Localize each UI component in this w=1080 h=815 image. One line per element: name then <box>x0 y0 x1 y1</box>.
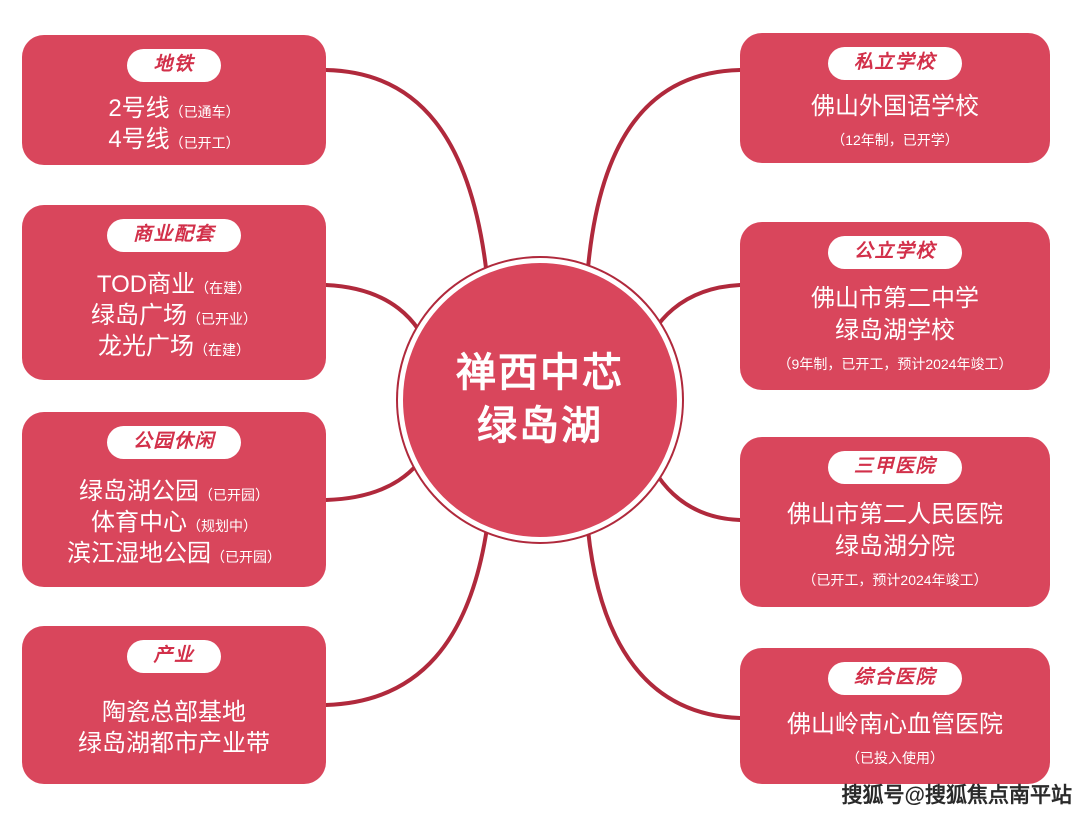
item-title: 绿岛湖学校 <box>835 317 955 344</box>
connector-industry <box>326 528 487 705</box>
item-title: 佛山岭南心血管医院 <box>787 711 1003 738</box>
card-industry[interactable]: 产业 陶瓷总部基地 绿岛湖都市产业带 <box>22 626 326 784</box>
list-item: 绿岛湖公园（已开园） <box>79 476 269 507</box>
list-item: 佛山岭南心血管医院 <box>787 709 1003 740</box>
item-title: 体育中心 <box>91 509 187 536</box>
item-title: 佛山市第二中学 <box>811 285 979 312</box>
list-item: TOD商业（在建） <box>97 269 251 300</box>
item-title: 绿岛广场 <box>91 302 187 329</box>
item-title: 绿岛湖都市产业带 <box>78 730 270 757</box>
list-item: 绿岛湖学校 <box>835 315 955 346</box>
card-public-school-body: 佛山市第二中学 绿岛湖学校 （9年制，已开工，预计2024年竣工） <box>750 280 1040 378</box>
card-tertiary-hospital[interactable]: 三甲医院 佛山市第二人民医院 绿岛湖分院 （已开工，预计2024年竣工） <box>740 437 1050 607</box>
list-item: 绿岛广场（已开业） <box>91 300 257 331</box>
item-note: （在建） <box>195 280 251 296</box>
list-item: 4号线（已开工） <box>108 124 239 155</box>
connector-metro <box>326 70 486 268</box>
card-metro[interactable]: 地铁 2号线（已通车） 4号线（已开工） <box>22 35 326 165</box>
watermark: 搜狐号@搜狐焦点南平站 <box>842 779 1072 809</box>
infographic-canvas: 地铁 2号线（已通车） 4号线（已开工） 商业配套 TOD商业（在建） 绿岛广场… <box>0 0 1080 815</box>
list-item: 佛山外国语学校 <box>811 91 979 122</box>
card-park[interactable]: 公园休闲 绿岛湖公园（已开园） 体育中心（规划中） 滨江湿地公园（已开园） <box>22 412 326 587</box>
card-private-school[interactable]: 私立学校 佛山外国语学校 （12年制，已开学） <box>740 33 1050 163</box>
card-footnote: （已投入使用） <box>846 749 944 769</box>
card-general-hospital-badge: 综合医院 <box>828 662 962 695</box>
item-title: 绿岛湖公园 <box>79 478 199 505</box>
card-private-school-body: 佛山外国语学校 （12年制，已开学） <box>750 91 1040 151</box>
card-general-hospital-body: 佛山岭南心血管医院 （已投入使用） <box>750 706 1040 772</box>
center-hub[interactable]: 禅西中芯 绿岛湖 <box>398 258 682 542</box>
list-item: 龙光广场（在建） <box>98 331 250 362</box>
list-item: 绿岛湖分院 <box>835 531 955 562</box>
item-title: 2号线 <box>108 95 169 122</box>
item-note: （已开园） <box>199 487 269 503</box>
item-title: TOD商业 <box>97 271 195 298</box>
item-note: （已开业） <box>187 311 257 327</box>
item-title: 4号线 <box>108 126 169 153</box>
card-private-school-badge: 私立学校 <box>828 47 962 80</box>
card-tertiary-hospital-body: 佛山市第二人民医院 绿岛湖分院 （已开工，预计2024年竣工） <box>750 495 1040 595</box>
item-title: 滨江湿地公园 <box>67 540 211 567</box>
list-item: 绿岛湖都市产业带 <box>78 728 270 759</box>
item-title: 绿岛湖分院 <box>835 533 955 560</box>
card-tertiary-hospital-badge: 三甲医院 <box>828 451 962 484</box>
card-footnote: （已开工，预计2024年竣工） <box>802 571 987 591</box>
card-industry-badge: 产业 <box>127 640 220 673</box>
card-public-school-badge: 公立学校 <box>828 236 962 269</box>
connector-hospital <box>588 530 740 718</box>
card-public-school[interactable]: 公立学校 佛山市第二中学 绿岛湖学校 （9年制，已开工，预计2024年竣工） <box>740 222 1050 390</box>
card-commerce-body: TOD商业（在建） 绿岛广场（已开业） 龙光广场（在建） <box>32 263 316 368</box>
list-item: 2号线（已通车） <box>108 93 239 124</box>
list-item: 滨江湿地公园（已开园） <box>67 538 281 569</box>
list-item: 陶瓷总部基地 <box>102 697 246 728</box>
item-title: 龙光广场 <box>98 333 194 360</box>
connector-private <box>588 70 740 268</box>
card-footnote: （12年制，已开学） <box>831 131 959 151</box>
item-note: （在建） <box>194 342 250 358</box>
item-note: （规划中） <box>187 518 257 534</box>
card-footnote: （9年制，已开工，预计2024年竣工） <box>778 355 1013 375</box>
card-general-hospital[interactable]: 综合医院 佛山岭南心血管医院 （已投入使用） <box>740 648 1050 784</box>
list-item: 佛山市第二人民医院 <box>787 499 1003 530</box>
card-park-body: 绿岛湖公园（已开园） 体育中心（规划中） 滨江湿地公园（已开园） <box>32 470 316 575</box>
item-title: 陶瓷总部基地 <box>102 699 246 726</box>
card-metro-body: 2号线（已通车） 4号线（已开工） <box>32 93 316 155</box>
item-note: （已开园） <box>211 549 281 565</box>
card-commerce[interactable]: 商业配套 TOD商业（在建） 绿岛广场（已开业） 龙光广场（在建） <box>22 205 326 380</box>
item-note: （已通车） <box>170 104 240 120</box>
card-industry-body: 陶瓷总部基地 绿岛湖都市产业带 <box>32 684 316 772</box>
item-title: 佛山外国语学校 <box>811 93 979 120</box>
item-note: （已开工） <box>170 135 240 151</box>
list-item: 佛山市第二中学 <box>811 283 979 314</box>
list-item: 体育中心（规划中） <box>91 507 257 538</box>
center-title-line1: 禅西中芯 <box>456 347 624 400</box>
item-title: 佛山市第二人民医院 <box>787 501 1003 528</box>
card-commerce-badge: 商业配套 <box>107 219 241 252</box>
center-title-line2: 绿岛湖 <box>477 400 603 453</box>
card-park-badge: 公园休闲 <box>107 426 241 459</box>
card-metro-badge: 地铁 <box>127 49 220 82</box>
